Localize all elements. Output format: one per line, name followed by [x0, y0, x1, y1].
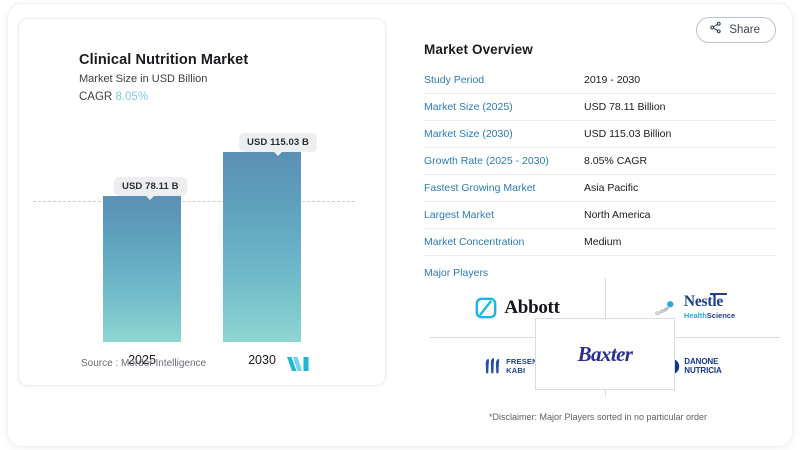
row-key: Fastest Growing Market	[424, 182, 584, 194]
table-row-market-size-2025: Market Size (2025) USD 78.11 Billion	[424, 94, 776, 121]
reference-dashed-line	[33, 201, 355, 202]
bar-chart-plot: USD 78.11 B USD 115.03 B 2025 2030	[19, 19, 386, 386]
share-icon	[709, 21, 722, 39]
row-value: North America	[584, 209, 651, 221]
row-key: Study Period	[424, 74, 584, 86]
chart-source-row: Source : Mordor Intelligence	[19, 355, 386, 377]
nestle-wordmark: Nestle	[684, 294, 723, 310]
fresenius-mark-icon	[484, 357, 501, 376]
table-row-growth-rate: Growth Rate (2025 - 2030) 8.05% CAGR	[424, 148, 776, 175]
share-button-label: Share	[729, 24, 760, 36]
bar-value-label-2030: USD 115.03 B	[239, 133, 317, 152]
share-button[interactable]: Share	[696, 17, 776, 43]
row-value: USD 78.11 Billion	[584, 101, 666, 113]
abbott-wordmark: Abbott	[504, 297, 559, 319]
row-key: Market Size (2030)	[424, 128, 584, 140]
row-value: 2019 - 2030	[584, 74, 640, 86]
bar-2025[interactable]	[103, 196, 181, 342]
overview-title: Market Overview	[424, 42, 776, 57]
market-overview-table: Market Overview Study Period 2019 - 2030…	[424, 42, 776, 279]
table-row-largest-market: Largest Market North America	[424, 202, 776, 229]
source-label: Source : Mordor Intelligence	[81, 358, 206, 369]
major-players-grid: Abbott Nestle HealthScience	[430, 278, 780, 396]
nestle-health-science-logo: Nestle HealthScience	[650, 294, 735, 321]
row-key: Market Concentration	[424, 236, 584, 248]
nestle-bird-icon	[650, 297, 680, 319]
row-key: Growth Rate (2025 - 2030)	[424, 155, 584, 167]
table-row-market-size-2030: Market Size (2030) USD 115.03 Billion	[424, 121, 776, 148]
bar-value-label-2025: USD 78.11 B	[114, 177, 187, 196]
player-cell-baxter: Baxter	[535, 318, 675, 390]
nestle-sub-health: Health	[684, 311, 707, 320]
disclaimer-text: *Disclaimer: Major Players sorted in no …	[418, 412, 778, 422]
nestle-health-science-sub: HealthScience	[684, 310, 735, 321]
danone-line-2: NUTRICIA	[684, 367, 721, 376]
table-row-fastest-growing-market: Fastest Growing Market Asia Pacific	[424, 175, 776, 202]
table-row-market-concentration: Market Concentration Medium	[424, 229, 776, 256]
row-value: USD 115.03 Billion	[584, 128, 671, 140]
row-key: Largest Market	[424, 209, 584, 221]
row-key: Market Size (2025)	[424, 101, 584, 113]
mordor-intelligence-logo	[287, 356, 309, 377]
abbott-mark-icon	[475, 297, 497, 319]
chart-panel: Clinical Nutrition Market Market Size in…	[18, 18, 386, 386]
row-value: Medium	[584, 236, 621, 248]
table-row-study-period: Study Period 2019 - 2030	[424, 67, 776, 94]
row-value: 8.05% CAGR	[584, 155, 647, 167]
nestle-sub-science: Science	[707, 311, 735, 320]
baxter-wordmark: Baxter	[578, 342, 633, 367]
row-value: Asia Pacific	[584, 182, 638, 194]
bar-2030[interactable]	[223, 152, 301, 342]
market-infographic-page: Share Clinical Nutrition Market Market S…	[0, 0, 800, 450]
abbott-logo: Abbott	[475, 297, 559, 319]
